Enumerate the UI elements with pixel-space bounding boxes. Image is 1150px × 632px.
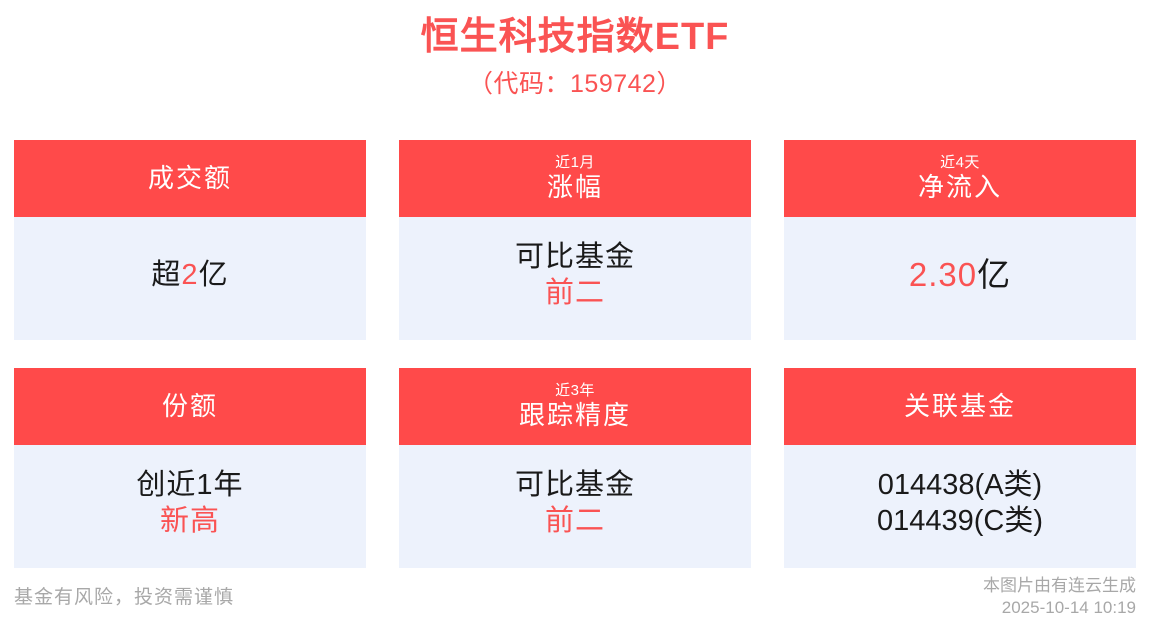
- card-body-tracking-accuracy: 可比基金 前二: [399, 445, 751, 568]
- credit-timestamp: 2025-10-14 10:19: [983, 597, 1136, 619]
- poster-footer: 基金有风险，投资需谨慎 本图片由有连云生成 2025-10-14 10:19: [0, 570, 1150, 632]
- card-header-period: 近4天: [940, 154, 980, 172]
- metric-card-grid: 成交额 超2亿 近1月 涨幅 可比基金 前二 近4天 净流入 2.3: [14, 140, 1136, 568]
- generation-credit: 本图片由有连云生成 2025-10-14 10:19: [983, 575, 1136, 620]
- card-body-turnover: 超2亿: [14, 217, 366, 340]
- card-header-related-funds: 关联基金: [784, 368, 1136, 445]
- metric-prefix: 超: [151, 259, 181, 291]
- credit-source: 本图片由有连云生成: [983, 575, 1136, 597]
- metric-card-turnover: 成交额 超2亿: [14, 140, 366, 340]
- card-header-title: 份额: [162, 391, 218, 422]
- card-header-title: 涨幅: [547, 172, 603, 203]
- metric-card-monthly-gain: 近1月 涨幅 可比基金 前二: [399, 140, 751, 340]
- metric-card-shares: 份额 创近1年 新高: [14, 368, 366, 568]
- metric-highlight: 新高: [160, 504, 220, 539]
- related-fund-code-a: 014438(A类): [878, 468, 1042, 503]
- card-header-title: 成交额: [148, 163, 232, 194]
- risk-disclaimer: 基金有风险，投资需谨慎: [14, 582, 234, 609]
- fund-code-label: （代码：159742）: [0, 68, 1150, 101]
- metric-caption: 创近1年: [136, 468, 243, 503]
- card-header-period: 近1月: [555, 154, 595, 172]
- card-header-title: 关联基金: [904, 391, 1016, 422]
- metric-unit: 亿: [977, 256, 1011, 293]
- metric-card-net-inflow: 近4天 净流入 2.30亿: [784, 140, 1136, 340]
- metric-unit: 亿: [199, 259, 229, 291]
- metric-caption: 可比基金: [515, 240, 635, 275]
- etf-info-poster: 恒生科技指数ETF （代码：159742） 成交额 超2亿 近1月 涨幅 可比基…: [0, 0, 1150, 632]
- poster-header: 恒生科技指数ETF （代码：159742）: [0, 0, 1150, 100]
- card-header-monthly-gain: 近1月 涨幅: [399, 140, 751, 217]
- related-fund-code-c: 014439(C类): [877, 504, 1043, 539]
- metric-card-related-funds: 关联基金 014438(A类) 014439(C类): [784, 368, 1136, 568]
- metric-number: 2: [181, 259, 198, 291]
- page-title: 恒生科技指数ETF: [0, 14, 1150, 62]
- metric-number: 2.30: [909, 256, 977, 293]
- card-header-tracking-accuracy: 近3年 跟踪精度: [399, 368, 751, 445]
- card-header-turnover: 成交额: [14, 140, 366, 217]
- card-header-net-inflow: 近4天 净流入: [784, 140, 1136, 217]
- card-header-shares: 份额: [14, 368, 366, 445]
- metric-caption: 可比基金: [515, 468, 635, 503]
- card-body-shares: 创近1年 新高: [14, 445, 366, 568]
- metric-rank: 前二: [545, 504, 605, 539]
- metric-value-net-inflow: 2.30亿: [909, 255, 1011, 295]
- metric-rank: 前二: [545, 276, 605, 311]
- card-header-period: 近3年: [555, 382, 595, 400]
- card-header-title: 跟踪精度: [519, 400, 631, 431]
- card-body-monthly-gain: 可比基金 前二: [399, 217, 751, 340]
- metric-card-tracking-accuracy: 近3年 跟踪精度 可比基金 前二: [399, 368, 751, 568]
- card-header-title: 净流入: [918, 172, 1002, 203]
- card-body-related-funds: 014438(A类) 014439(C类): [784, 445, 1136, 568]
- card-body-net-inflow: 2.30亿: [784, 217, 1136, 340]
- metric-value-turnover: 超2亿: [151, 258, 228, 293]
